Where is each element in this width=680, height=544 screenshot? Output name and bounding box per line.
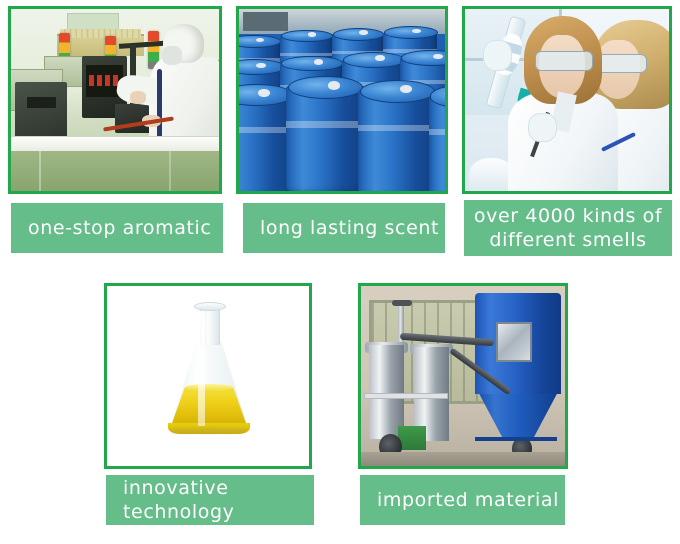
caption-long-lasting-scent: long lasting scent xyxy=(243,203,445,253)
feature-grid: one-stop aromatic long lasting scent xyxy=(0,0,680,544)
caption-text: one-stop aromatic xyxy=(28,216,211,240)
image-panel-imported-material[interactable] xyxy=(358,283,568,469)
photo-blue-drums xyxy=(239,9,445,191)
caption-text: innovative technology xyxy=(123,476,314,525)
photo-yellow-flask xyxy=(107,286,309,466)
photo-lab-technician xyxy=(11,9,219,191)
caption-line-1: over 4000 kinds of xyxy=(474,205,662,227)
caption-line-2: different smells xyxy=(474,228,662,252)
photo-processing-plant xyxy=(361,286,565,466)
caption-imported-material: imported material xyxy=(360,475,565,525)
image-panel-one-stop-aromatic[interactable] xyxy=(8,6,222,194)
caption-innovative-technology: innovative technology xyxy=(106,475,314,525)
image-panel-innovative-technology[interactable] xyxy=(104,283,312,469)
caption-one-stop-aromatic: one-stop aromatic xyxy=(11,203,223,253)
caption-text-block: over 4000 kinds of different smells xyxy=(474,204,662,253)
caption-text: long lasting scent xyxy=(260,216,439,240)
image-panel-over-4000-kinds[interactable] xyxy=(462,6,672,194)
caption-over-4000-kinds: over 4000 kinds of different smells xyxy=(464,200,672,256)
image-panel-long-lasting-scent[interactable] xyxy=(236,6,448,194)
caption-text: imported material xyxy=(377,488,559,512)
photo-chemists xyxy=(465,9,669,191)
